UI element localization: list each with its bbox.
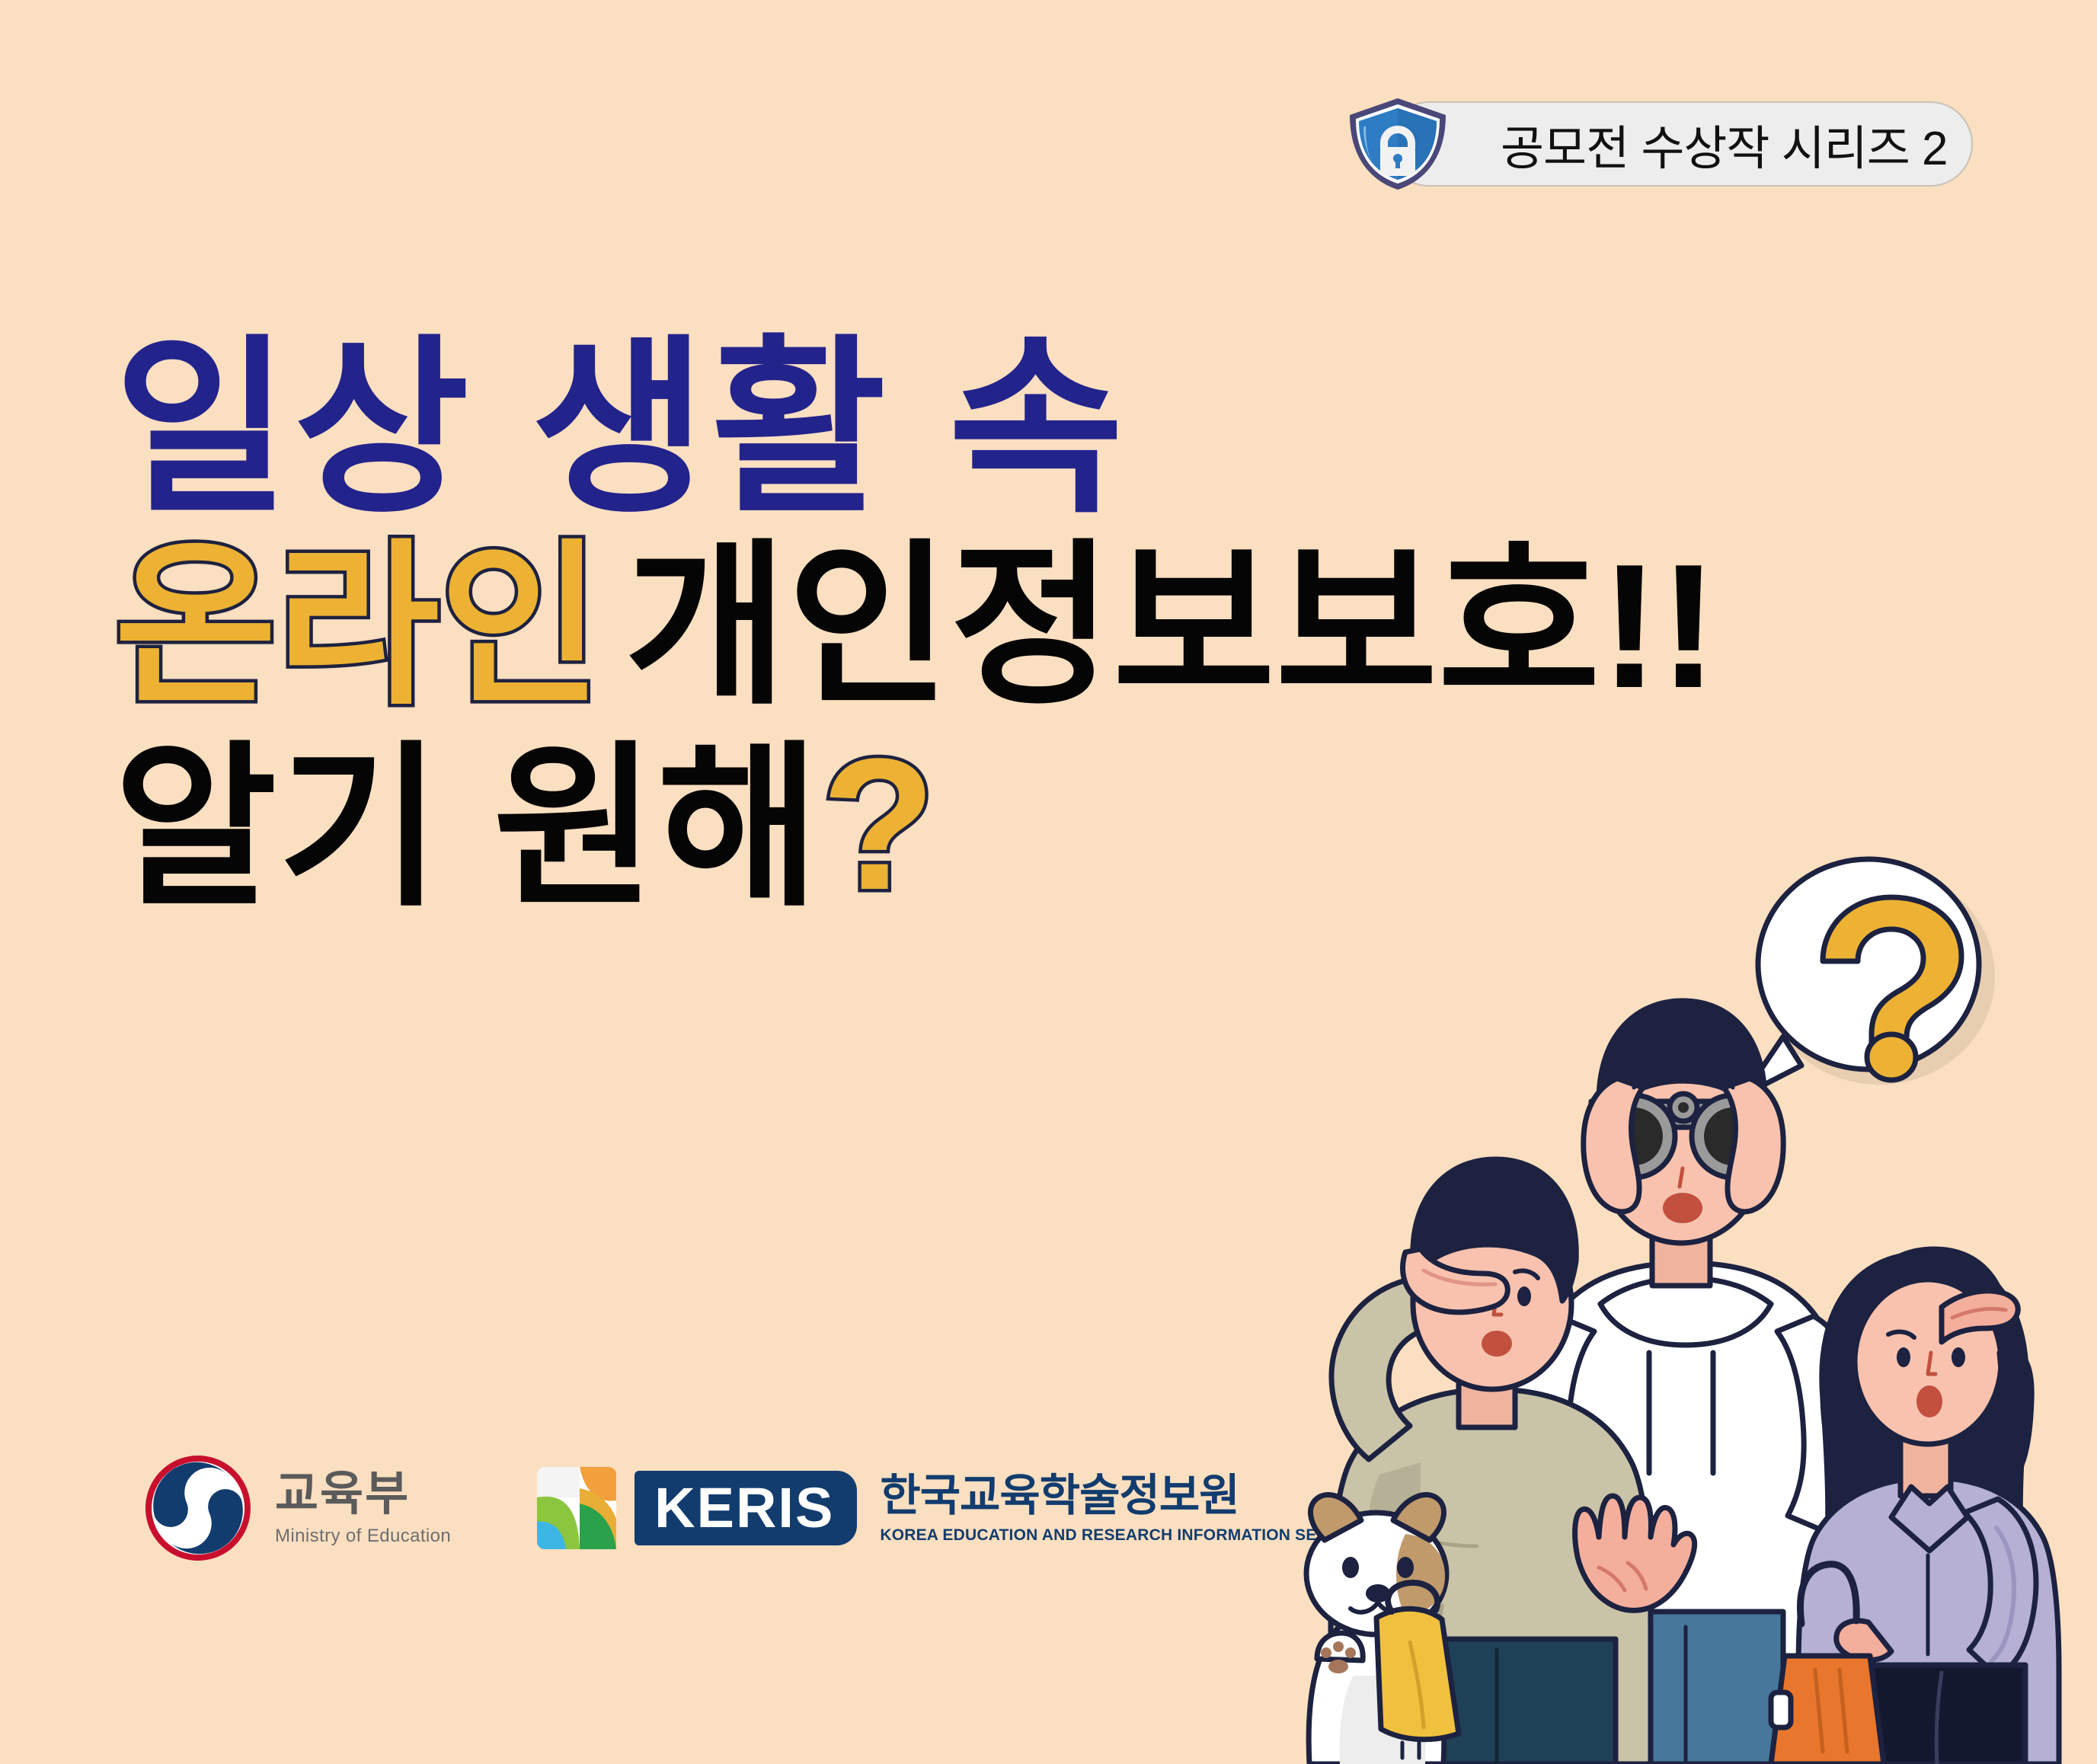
ministry-name-en: Ministry of Education <box>275 1527 451 1545</box>
headline-block: 일상 생활 속 온라인개인정보보호!! 알기 원해? <box>114 335 1718 916</box>
footer-logos: 교육부 Ministry of Education KERIS 한국교육학술정보… <box>141 1451 1366 1565</box>
keris-wordmark-badge: KERIS <box>635 1471 857 1545</box>
people-illustration <box>1290 850 2097 1764</box>
taegeuk-icon <box>141 1451 255 1565</box>
headline-highlight-online: 온라인 <box>114 528 602 725</box>
headline-line-3-text: 알기 원해 <box>114 730 821 927</box>
ministry-name-ko: 교육부 <box>275 1471 451 1518</box>
headline-line-1: 일상 생활 속 <box>114 335 1718 522</box>
ministry-text-block: 교육부 Ministry of Education <box>275 1471 451 1545</box>
series-badge-label: 공모전 수상작 시리즈 2 <box>1501 101 1948 187</box>
headline-line-2: 온라인개인정보보호!! <box>114 540 1718 713</box>
ministry-of-education-logo: 교육부 Ministry of Education <box>141 1451 451 1565</box>
poster-canvas: 공모전 수상작 시리즈 2 일상 생활 속 온라인개인정보보호!! 알기 원해?… <box>0 0 2097 1764</box>
headline-line-2-rest: 개인정보보호!! <box>625 528 1718 725</box>
headline-question-mark: ? <box>821 720 937 929</box>
keris-wordmark: KERIS <box>654 1480 834 1536</box>
shield-lock-icon <box>1341 95 1455 193</box>
keris-leaf-icon <box>531 1462 622 1554</box>
speech-bubble <box>1744 859 1995 1095</box>
keris-logo: KERIS 한국교육학술정보원 KOREA EDUCATION AND RESE… <box>531 1462 1366 1554</box>
